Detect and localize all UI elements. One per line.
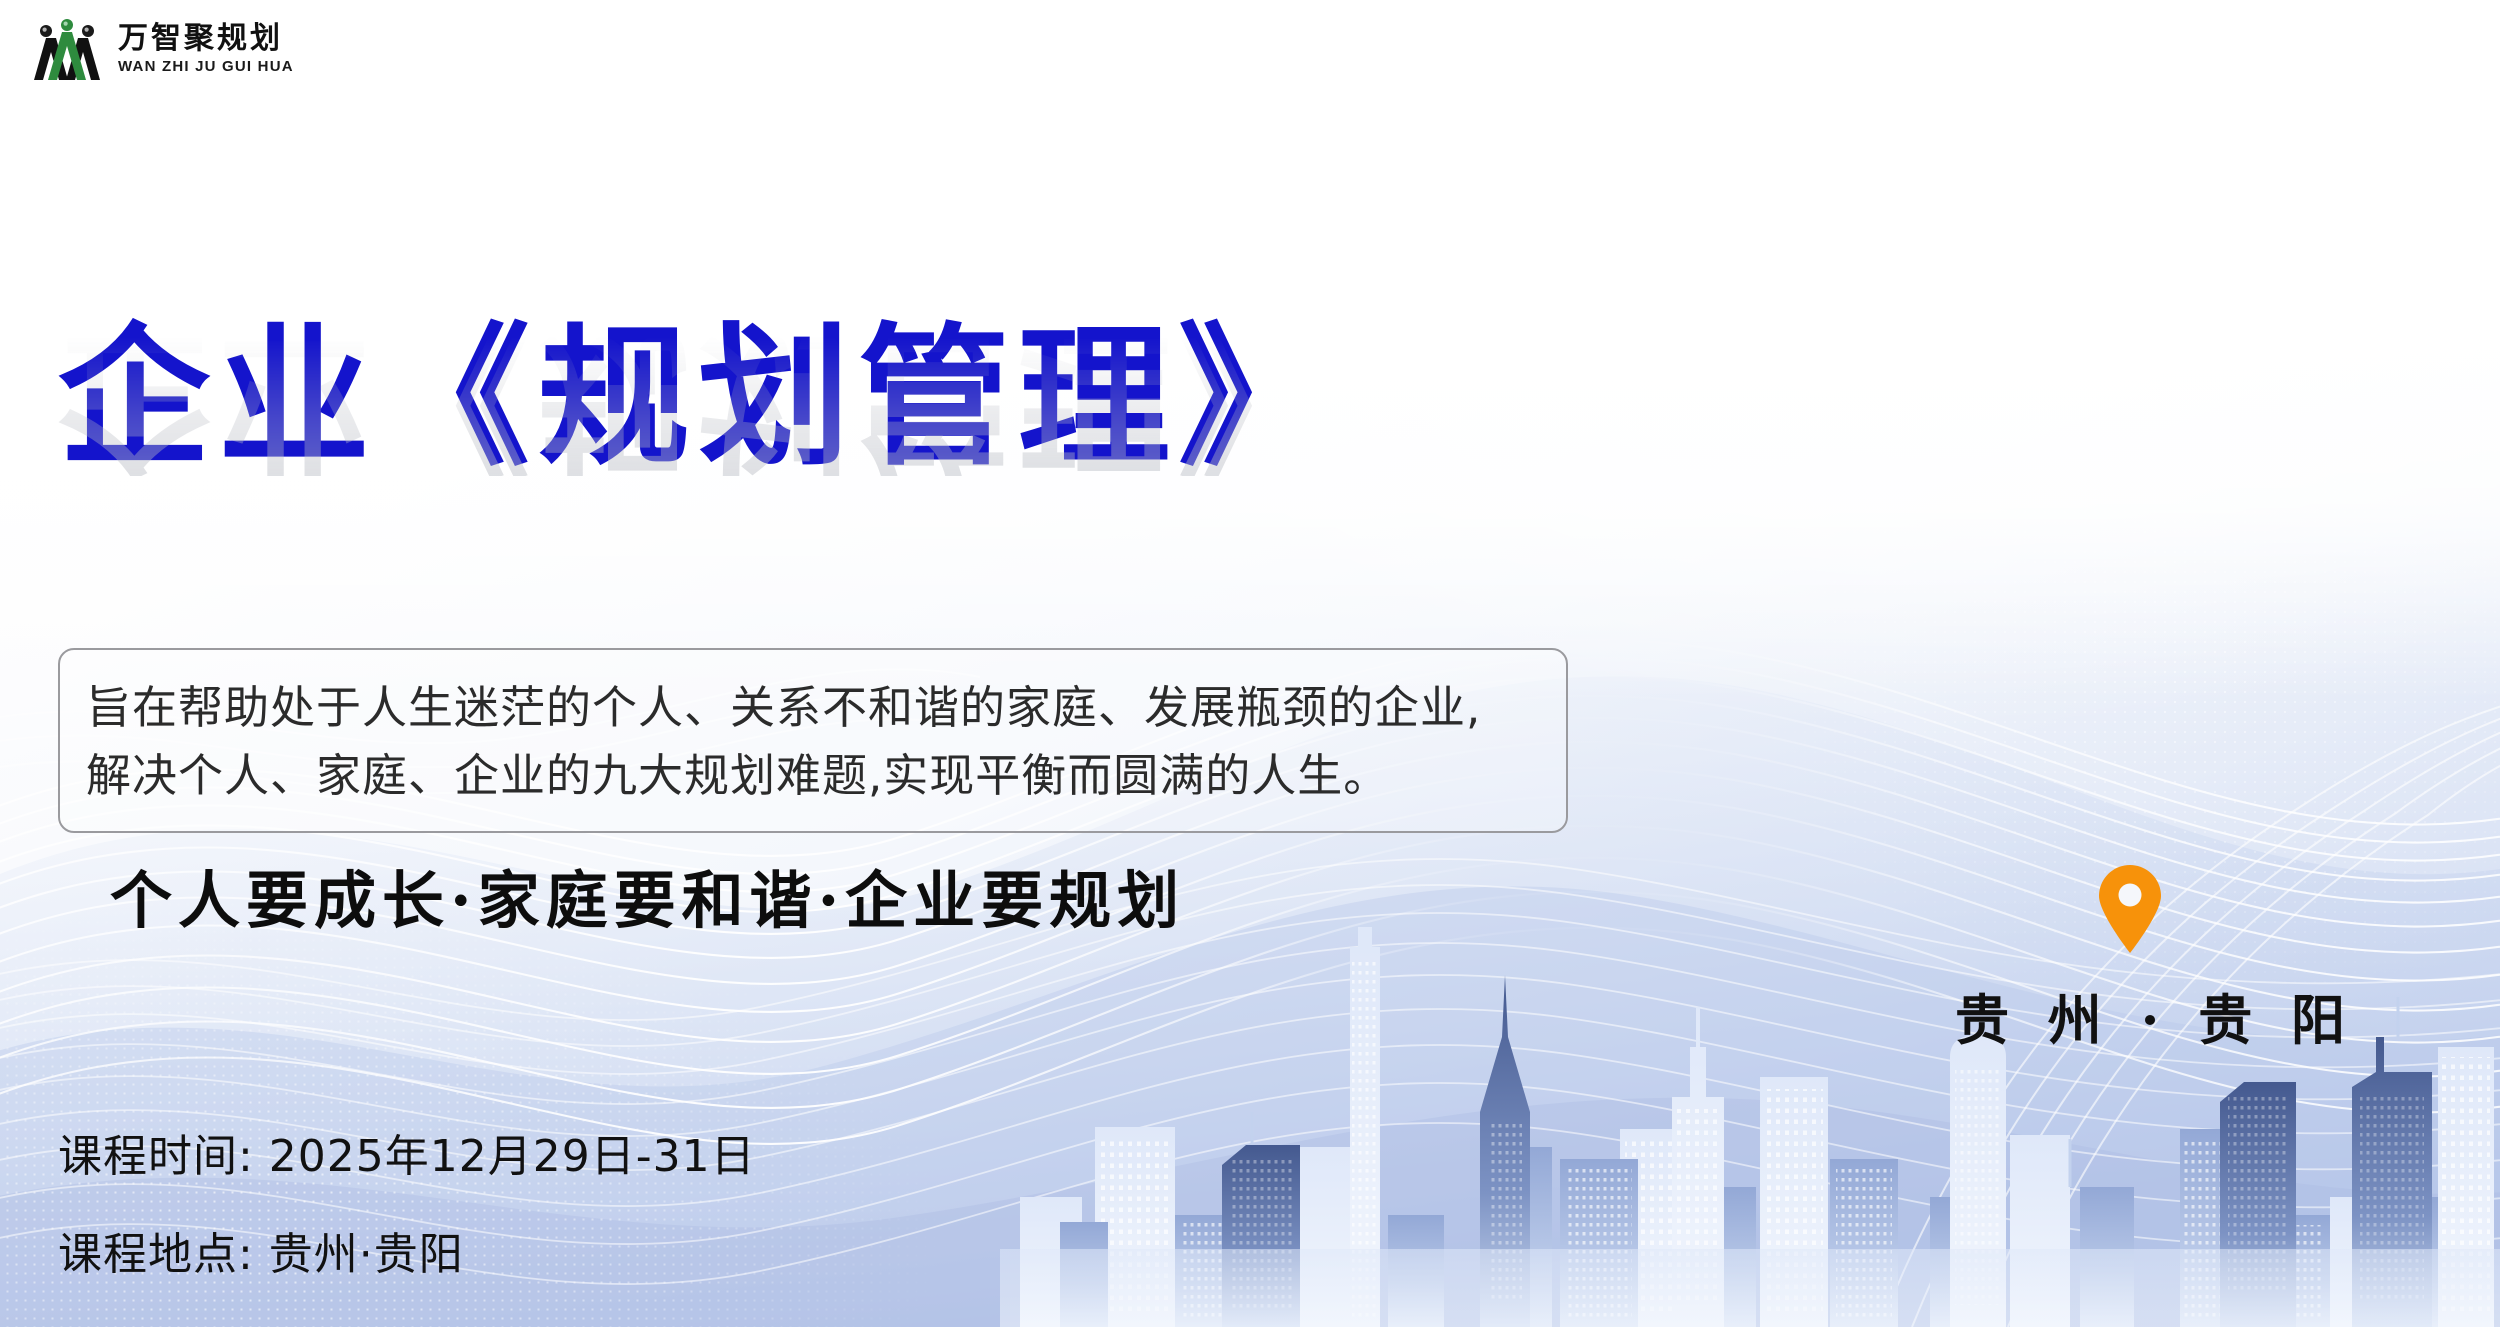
description-line-1: 旨在帮助处于人生迷茫的个人、关系不和谐的家庭、发展瓶颈的企业, xyxy=(86,674,1540,742)
poster-canvas: 万智聚规划 WAN ZHI JU GUI HUA 企业《规划管理》 企业《规划管… xyxy=(0,0,2500,1327)
description-box: 旨在帮助处于人生迷茫的个人、关系不和谐的家庭、发展瓶颈的企业, 解决个人、家庭、… xyxy=(58,648,1568,833)
map-pin-icon xyxy=(2097,865,2163,953)
brand-name-en: WAN ZHI JU GUI HUA xyxy=(118,58,294,75)
slogan-text: 个人要成长·家庭要和谐·企业要规划 xyxy=(110,850,1185,940)
location-label: 贵 州 · 贵 阳 xyxy=(1955,976,2305,1055)
course-place-row: 课程地点: 贵州·贵阳 xyxy=(58,1218,756,1282)
course-info-block: 课程时间: 2025年12月29日-31日 课程地点: 贵州·贵阳 xyxy=(58,1120,756,1282)
brand-logo[interactable]: 万智聚规划 WAN ZHI JU GUI HUA xyxy=(30,18,294,80)
brand-name-cn: 万智聚规划 xyxy=(118,23,294,55)
brand-logo-text: 万智聚规划 WAN ZHI JU GUI HUA xyxy=(118,23,294,75)
course-time-row: 课程时间: 2025年12月29日-31日 xyxy=(58,1120,756,1184)
three-people-m-logo-icon xyxy=(30,18,104,80)
hero-title-block: 企业《规划管理》 企业《规划管理》 xyxy=(58,322,1618,628)
location-badge: 贵 州 · 贵 阳 xyxy=(1955,865,2305,1055)
description-line-2: 解决个人、家庭、企业的九大规划难题,实现平衡而圆满的人生。 xyxy=(86,742,1540,810)
page-title: 企业《规划管理》 xyxy=(58,322,1618,474)
